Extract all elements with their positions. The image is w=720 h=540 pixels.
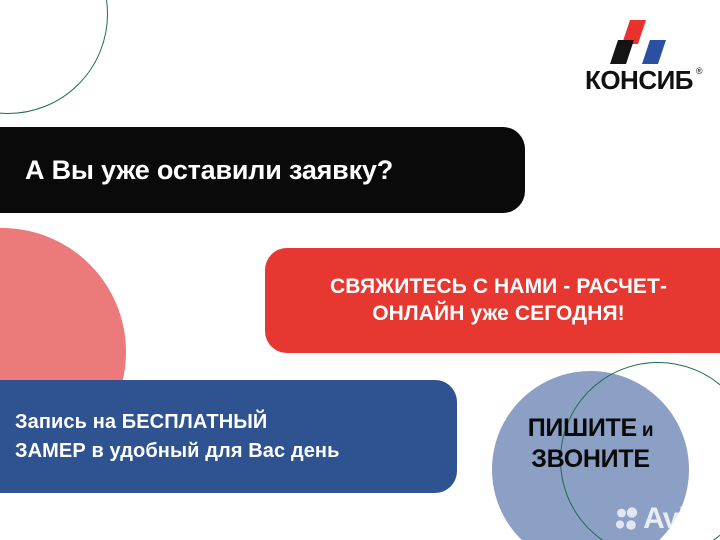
callout-call-label: ЗВОНИТЕ: [531, 444, 649, 475]
callout-line1: ПИШИТЕ и: [528, 413, 654, 444]
contact-bubble-line2-part3: СЕГОДНЯ!: [509, 302, 625, 325]
callout-write-label: ПИШИТЕ: [528, 414, 637, 442]
registered-trademark-icon: ®: [696, 67, 702, 76]
question-bubble: А Вы уже оставили заявку?: [0, 127, 525, 213]
contact-bubble-text: СВЯЖИТЕСЬ С НАМИ - РАСЧЕТ- ОНЛАЙН уже СЕ…: [330, 274, 667, 328]
promo-banner: А Вы уже оставили заявку? СВЯЖИТЕСЬ С НА…: [0, 0, 720, 540]
measure-bubble-line2: ЗАМЕР в удобный для Вас день: [15, 440, 340, 462]
measure-bubble-text: Запись на БЕСПЛАТНЫЙ ЗАМЕР в удобный для…: [15, 408, 340, 466]
free-measurement-bubble: Запись на БЕСПЛАТНЫЙ ЗАМЕР в удобный для…: [0, 380, 457, 493]
contact-bubble-line1: СВЯЖИТЕСЬ С НАМИ - РАСЧЕТ-: [330, 275, 667, 298]
konsib-logo-mark-icon: [570, 18, 702, 66]
konsib-logo: КОНСИБ ®: [570, 18, 702, 96]
measure-bubble-line1: Запись на БЕСПЛАТНЫЙ: [15, 411, 267, 433]
callout-conjunction: и: [637, 420, 653, 441]
write-and-call-callout: ПИШИТЕ и ЗВОНИТЕ: [492, 371, 689, 540]
konsib-wordmark: КОНСИБ ®: [570, 67, 702, 93]
konsib-wordmark-text: КОНСИБ: [585, 65, 693, 95]
question-bubble-text: А Вы уже оставили заявку?: [25, 155, 393, 186]
contact-bubble-line2-part1: ОНЛАЙН: [372, 302, 470, 325]
contact-bubble-line2-part2: уже: [470, 302, 509, 325]
decorative-green-circle-top-left: [0, 0, 108, 114]
contact-bubble: СВЯЖИТЕСЬ С НАМИ - РАСЧЕТ- ОНЛАЙН уже СЕ…: [265, 248, 720, 353]
